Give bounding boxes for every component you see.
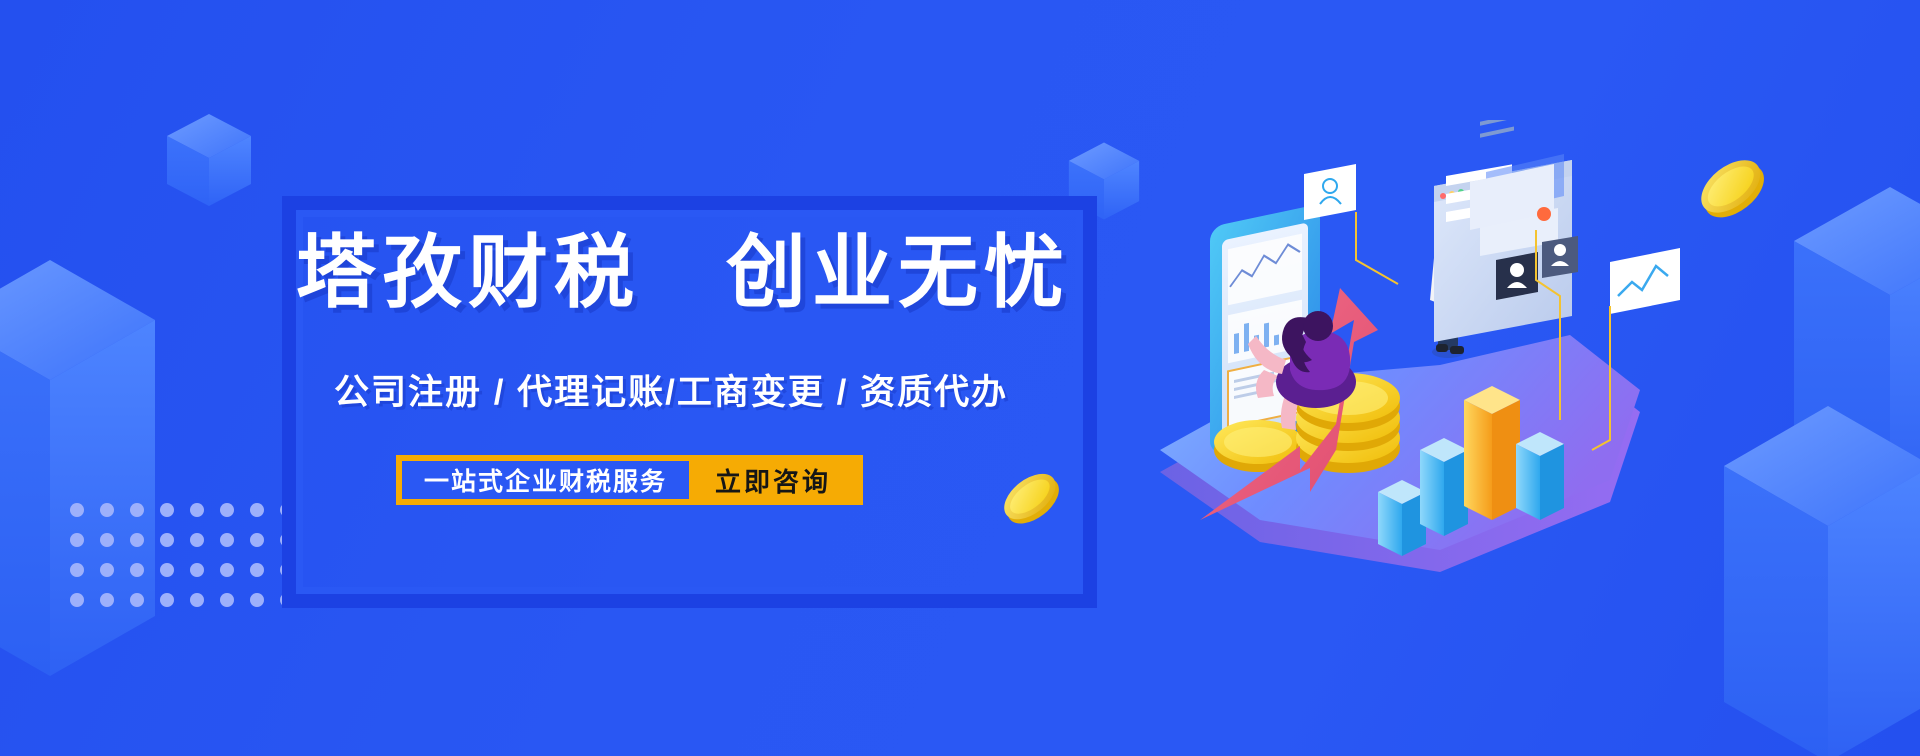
coin-icon-top-right [1692,148,1772,228]
services-subtitle: 公司注册 / 代理记账/工商变更 / 资质代办 [334,372,1074,414]
profile-card [1304,164,1356,220]
iso-cube-small-left-icon [166,112,252,208]
dot-grid-icon [70,503,294,607]
page-title: 塔孜财税 创业无忧 [296,228,1086,318]
iso-block-tall-left-icon [0,258,160,678]
iso-block-tall-right-lower-icon [1718,404,1920,756]
line-chart-card [1610,248,1680,314]
consult-now-button[interactable]: 立即咨询 [689,461,857,499]
isometric-finance-illustration [1140,120,1700,600]
cta-tagline: 一站式企业财税服务 [402,461,689,499]
cta-button-group[interactable]: 一站式企业财税服务 立即咨询 [396,455,863,505]
promotional-banner: 塔孜财税 创业无忧 公司注册 / 代理记账/工商变更 / 资质代办 一站式企业财… [0,0,1920,756]
